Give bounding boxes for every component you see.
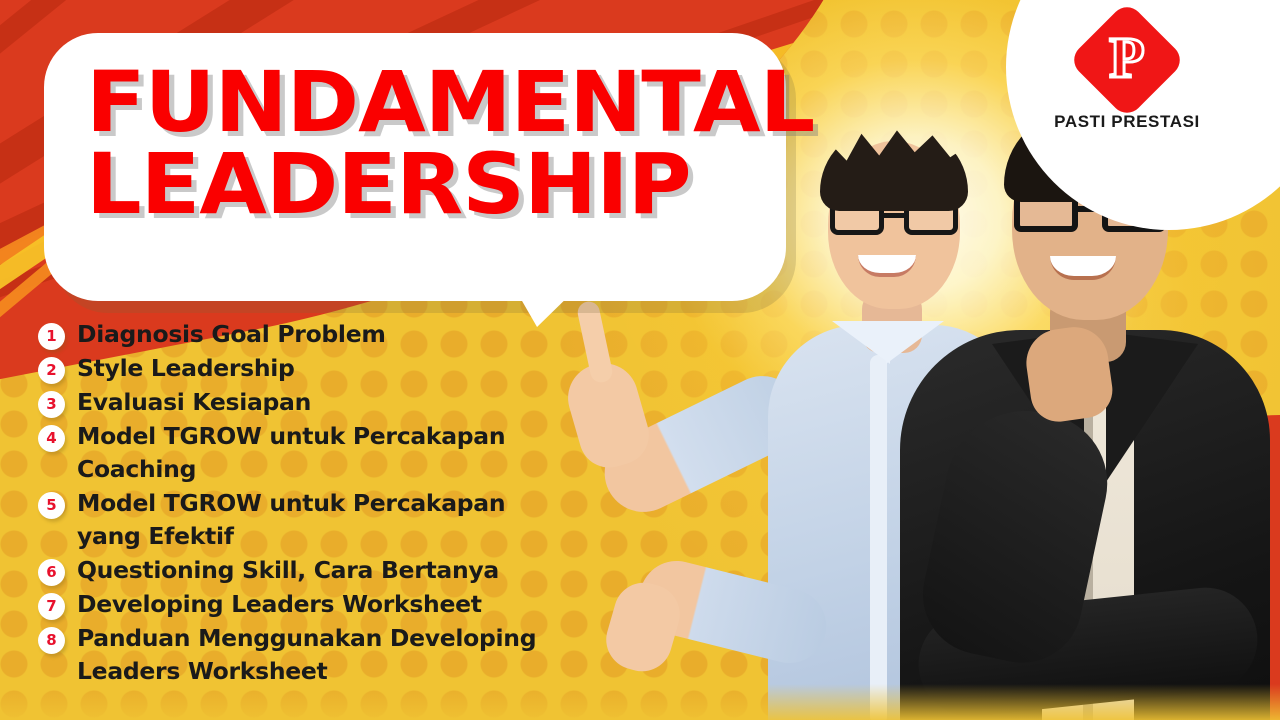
list-item-label: Model TGROW untuk Percakapan yang Efekti…: [77, 487, 547, 553]
list-item-label: Questioning Skill, Cara Bertanya: [77, 554, 499, 587]
list-item-label: Diagnosis Goal Problem: [77, 318, 386, 351]
logo-wordmark: PASTI PRESTASI: [1052, 112, 1202, 132]
presenter-left-shirt-placket: [870, 355, 887, 720]
list-item-label: Evaluasi Kesiapan: [77, 386, 311, 419]
poster-canvas: FUNDAMENTAL LEADERSHIP 1 Diagnosis Goal …: [0, 0, 1280, 720]
list-number-badge: 6: [38, 559, 65, 586]
brand-logo[interactable]: P PASTI PRESTASI: [1052, 18, 1202, 132]
list-item: 7 Developing Leaders Worksheet: [38, 588, 598, 621]
list-number-badge: 2: [38, 357, 65, 384]
list-item: 6 Questioning Skill, Cara Bertanya: [38, 554, 598, 587]
list-item: 8 Panduan Menggunakan Developing Leaders…: [38, 622, 598, 688]
logo-letter: P: [1085, 18, 1169, 102]
list-item: 1 Diagnosis Goal Problem: [38, 318, 598, 351]
title-speech-bubble: FUNDAMENTAL LEADERSHIP: [44, 33, 786, 301]
topic-list: 1 Diagnosis Goal Problem 2 Style Leaders…: [38, 318, 598, 689]
list-number-badge: 5: [38, 492, 65, 519]
page-title: FUNDAMENTAL LEADERSHIP: [86, 61, 804, 226]
list-item-label: Style Leadership: [77, 352, 295, 385]
list-item-label: Panduan Menggunakan Developing Leaders W…: [77, 622, 547, 688]
list-item-label: Model TGROW untuk Percakapan Coaching: [77, 420, 547, 486]
list-number-badge: 4: [38, 425, 65, 452]
list-item: 4 Model TGROW untuk Percakapan Coaching: [38, 420, 598, 486]
bottom-fade: [0, 684, 1280, 720]
list-number-badge: 1: [38, 323, 65, 350]
list-item: 3 Evaluasi Kesiapan: [38, 386, 598, 419]
list-item: 5 Model TGROW untuk Percakapan yang Efek…: [38, 487, 598, 553]
list-number-badge: 8: [38, 627, 65, 654]
list-number-badge: 3: [38, 391, 65, 418]
list-item: 2 Style Leadership: [38, 352, 598, 385]
list-number-badge: 7: [38, 593, 65, 620]
pasti-prestasi-diamond-icon: P: [1068, 1, 1187, 120]
list-item-label: Developing Leaders Worksheet: [77, 588, 482, 621]
